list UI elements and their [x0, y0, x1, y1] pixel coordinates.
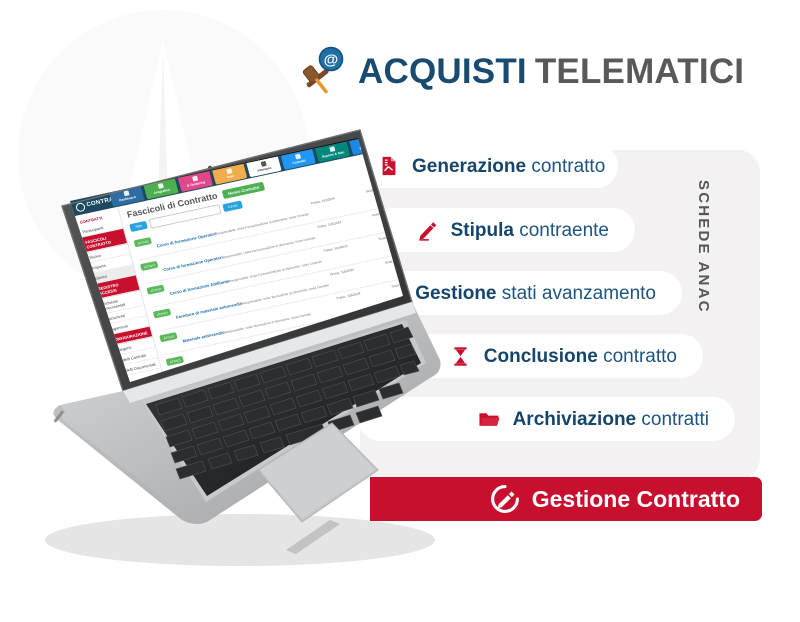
status-badge: ATTIVO — [134, 237, 152, 247]
step-label: Archiviazione contratti — [513, 410, 709, 429]
status-badge: ATTIVO — [166, 356, 184, 366]
row-sub2: Ente di riferimento: Unita Centrale — [264, 312, 312, 326]
footer-bar-label: Gestione Contratto — [532, 488, 740, 511]
row-sub: Responsabile: Unita Tecnica — [224, 322, 264, 334]
row-sub: Responsabile: Unita Formazione — [229, 270, 275, 284]
row-sub2: Ente di riferimento: Unita Centrale — [261, 212, 309, 226]
poster-canvas: @ ACQUISTITELEMATICI SCHEDE ANAC Generaz… — [0, 0, 800, 622]
status-badge: ATTIVO — [160, 332, 178, 342]
circle-pen-edit-icon — [490, 484, 520, 514]
row-sub: Responsabile: Unita Formazione — [222, 246, 268, 260]
panel-vertical-label: SCHEDE ANAC — [695, 180, 712, 314]
gavel-at-icon: @ — [300, 45, 348, 97]
title-secondary: TELEMATICI — [535, 52, 744, 91]
step-label-rest: contratti — [641, 409, 709, 430]
status-badge: ATTIVO — [140, 261, 158, 271]
filter-button[interactable]: Filtri — [130, 221, 148, 232]
step-label-rest: stati avanzamento — [502, 283, 656, 304]
step-label-rest: contratto — [603, 346, 677, 367]
step-label-rest: contratto — [531, 156, 605, 177]
row-sub2: Ente di riferimento: Unita Centrale — [281, 283, 329, 297]
step-label: Conclusione contratto — [484, 347, 677, 366]
title-primary: ACQUISTI — [358, 52, 527, 91]
tab-contabilita[interactable]: Contabilita — [383, 138, 412, 148]
step-label: Stipula contraente — [451, 221, 609, 240]
laptop-mockup: CONTRACT Dashboard Anagrafica E-Tenderin… — [10, 120, 450, 570]
row-sub2: Ente di riferimento: Unita Centrale — [274, 260, 322, 274]
step-label-bold: Conclusione — [484, 346, 598, 367]
row-title: Materiale antincendio — [182, 330, 225, 344]
step-label-bold: Stipula — [451, 220, 514, 241]
row-sub: Responsabile: Unita Tecnica — [242, 293, 282, 305]
search-button[interactable]: Cerca — [222, 200, 243, 212]
step-label-bold: Archiviazione — [513, 409, 637, 430]
step-label-rest: contraente — [519, 220, 609, 241]
status-badge: ATTIVO — [147, 285, 165, 295]
step-label: Gestione stati avanzamento — [415, 284, 656, 303]
status-badge: ATTIVO — [153, 308, 171, 318]
hourglass-icon — [449, 344, 473, 368]
row-sub2: Ente di riferimento: Unita Centrale — [268, 236, 316, 250]
logo-mark-icon — [75, 202, 86, 212]
svg-text:@: @ — [324, 52, 339, 69]
folder-open-icon — [478, 407, 502, 431]
page-title: @ ACQUISTITELEMATICI — [300, 42, 744, 100]
row-sub: Responsabile: Unita Formazione — [216, 222, 262, 236]
